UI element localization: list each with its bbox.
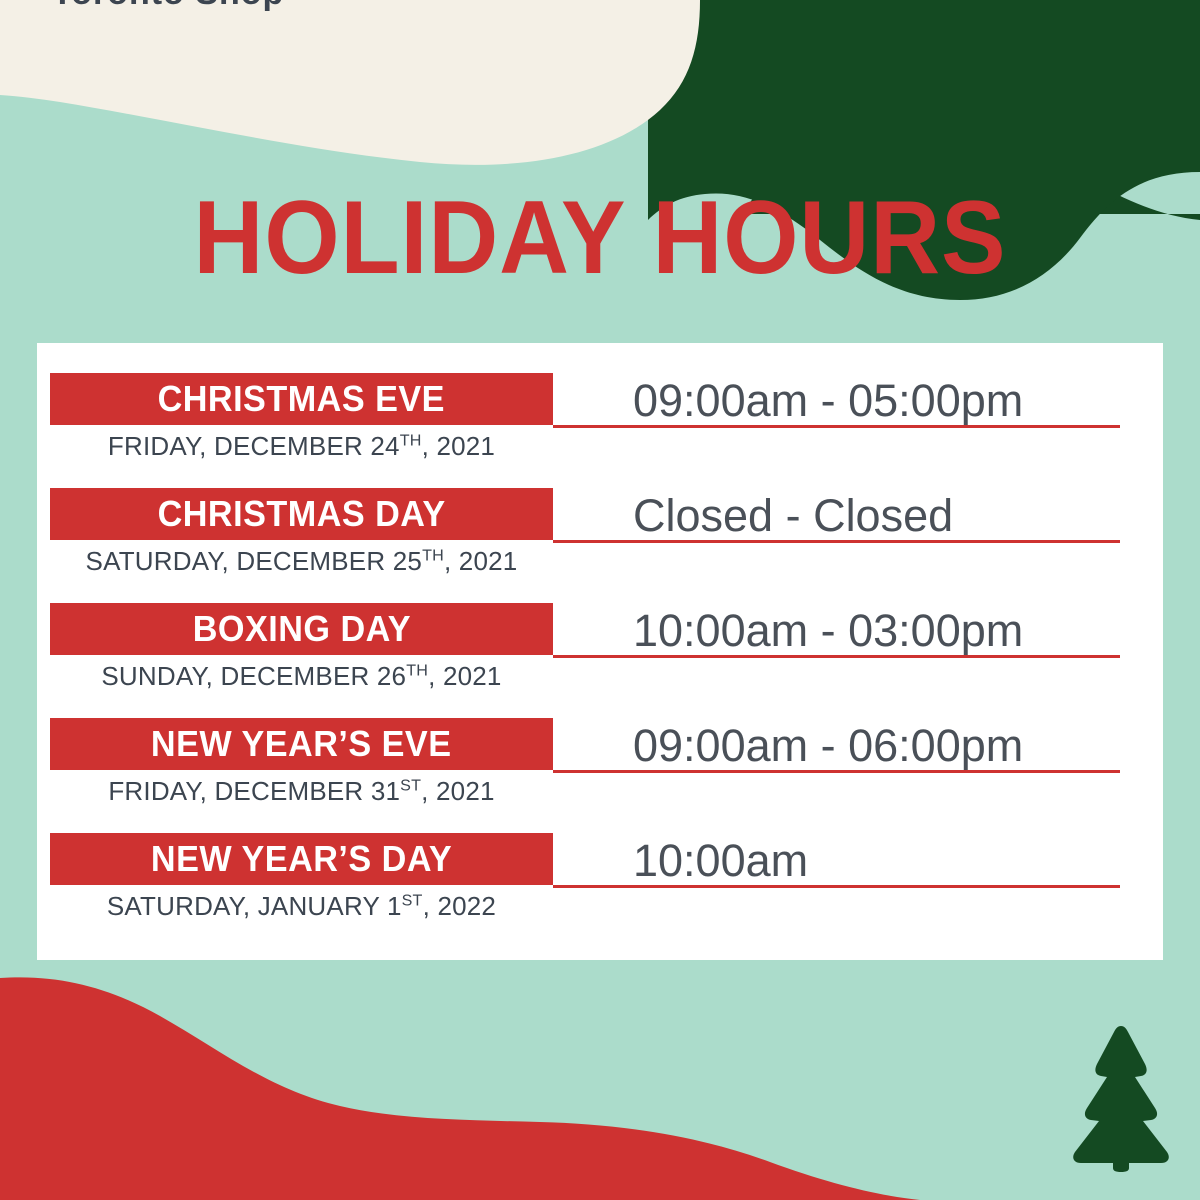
hours-underline [553, 770, 1120, 773]
date-prefix: FRIDAY, DECEMBER 24 [108, 431, 400, 461]
date-ordinal: ST [400, 776, 421, 794]
date-prefix: SUNDAY, DECEMBER 26 [101, 661, 406, 691]
hours-value: 10:00am [633, 835, 808, 887]
holiday-name: BOXING DAY [192, 611, 410, 647]
schedule-row: CHRISTMAS EVE 09:00am - 05:00pm FRIDAY, … [37, 373, 1163, 488]
christmas-tree-icon [1063, 1022, 1179, 1172]
date-ordinal: ST [402, 891, 423, 909]
holiday-name-band: NEW YEAR’S DAY [50, 833, 553, 885]
holiday-name-band: CHRISTMAS EVE [50, 373, 553, 425]
hours-value: 09:00am - 06:00pm [633, 720, 1023, 772]
date-suffix: , 2021 [422, 431, 496, 461]
holiday-date: SATURDAY, JANUARY 1ST, 2022 [50, 889, 553, 923]
holiday-name-band: CHRISTMAS DAY [50, 488, 553, 540]
date-suffix: , 2021 [444, 546, 518, 576]
schedule-row: NEW YEAR’S EVE 09:00am - 06:00pm FRIDAY,… [37, 718, 1163, 833]
date-suffix: , 2021 [421, 776, 495, 806]
hours-value: Closed - Closed [633, 490, 953, 542]
hours-underline [553, 425, 1120, 428]
date-ordinal: TH [400, 431, 422, 449]
hours-underline [553, 655, 1120, 658]
holiday-date: FRIDAY, DECEMBER 24TH, 2021 [50, 429, 553, 463]
schedule-row: BOXING DAY 10:00am - 03:00pm SUNDAY, DEC… [37, 603, 1163, 718]
holiday-name: CHRISTMAS EVE [158, 381, 445, 417]
date-ordinal: TH [406, 661, 428, 679]
date-ordinal: TH [422, 546, 444, 564]
holiday-date: FRIDAY, DECEMBER 31ST, 2021 [50, 774, 553, 808]
schedule-row: CHRISTMAS DAY Closed - Closed SATURDAY, … [37, 488, 1163, 603]
holiday-name-band: NEW YEAR’S EVE [50, 718, 553, 770]
hours-container: 10:00am - 03:00pm [553, 603, 1120, 659]
date-prefix: SATURDAY, DECEMBER 25 [86, 546, 423, 576]
date-prefix: FRIDAY, DECEMBER 31 [108, 776, 400, 806]
hours-underline [553, 540, 1120, 543]
hours-underline [553, 885, 1120, 888]
holiday-name: NEW YEAR’S EVE [151, 726, 452, 762]
hours-container: Closed - Closed [553, 488, 1120, 544]
hours-container: 09:00am - 06:00pm [553, 718, 1120, 774]
date-suffix: , 2022 [423, 891, 497, 921]
page-title: HOLIDAY HOURS [42, 186, 1158, 290]
holiday-hours-poster: Toronto Shop HOLIDAY HOURS CHRISTMAS EVE… [0, 0, 1200, 1200]
hours-container: 09:00am - 05:00pm [553, 373, 1120, 429]
hours-value: 09:00am - 05:00pm [633, 375, 1023, 427]
holiday-date: SUNDAY, DECEMBER 26TH, 2021 [50, 659, 553, 693]
holiday-date: SATURDAY, DECEMBER 25TH, 2021 [50, 544, 553, 578]
clipped-header-text: Toronto Shop [52, 0, 284, 13]
schedule-row: NEW YEAR’S DAY 10:00am SATURDAY, JANUARY… [37, 833, 1163, 948]
hours-value: 10:00am - 03:00pm [633, 605, 1023, 657]
schedule-rows: CHRISTMAS EVE 09:00am - 05:00pm FRIDAY, … [37, 343, 1163, 960]
schedule-card: CHRISTMAS EVE 09:00am - 05:00pm FRIDAY, … [37, 343, 1163, 960]
holiday-name-band: BOXING DAY [50, 603, 553, 655]
hours-container: 10:00am [553, 833, 1120, 889]
date-prefix: SATURDAY, JANUARY 1 [107, 891, 402, 921]
holiday-name: NEW YEAR’S DAY [151, 841, 452, 877]
date-suffix: , 2021 [428, 661, 502, 691]
holiday-name: CHRISTMAS DAY [157, 496, 445, 532]
